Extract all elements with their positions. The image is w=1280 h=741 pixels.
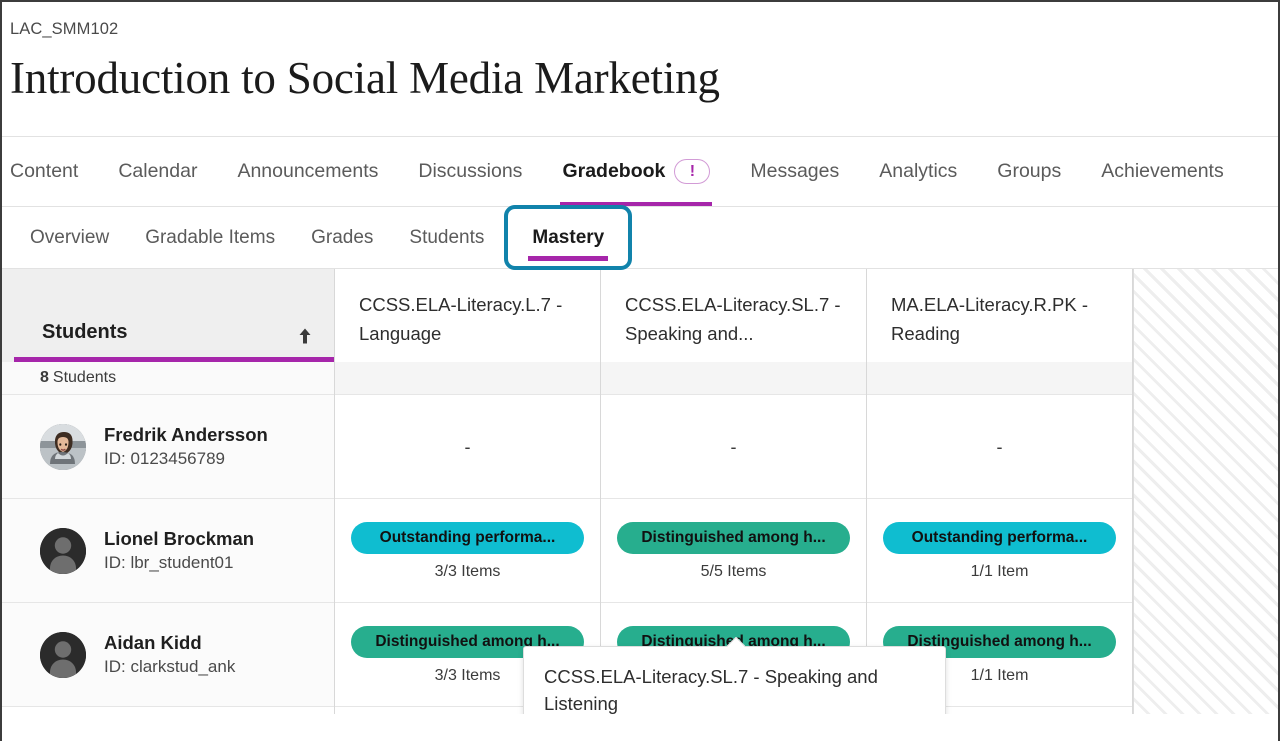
mastery-cell[interactable]: Outstanding performa...3/3 Items <box>335 499 600 603</box>
nav-item-content[interactable]: Content <box>2 137 98 206</box>
empty-value: - <box>997 438 1003 456</box>
avatar <box>40 424 86 470</box>
column-header-tooltip: CCSS.ELA-Literacy.SL.7 - Speaking and Li… <box>523 646 946 714</box>
nav-item-gradebook[interactable]: Gradebook! <box>542 137 730 206</box>
column-header[interactable]: MA.ELA-Literacy.R.PK - Reading <box>867 269 1132 362</box>
items-count-label: 3/3 Items <box>435 564 501 580</box>
student-meta: Lionel BrockmanID: lbr_student01 <box>104 528 254 574</box>
tab-label: Gradable Items <box>145 227 275 249</box>
nav-item-calendar[interactable]: Calendar <box>98 137 217 206</box>
tab-gradable-items[interactable]: Gradable Items <box>127 207 293 268</box>
tab-students[interactable]: Students <box>391 207 502 268</box>
nav-active-underline <box>560 202 712 206</box>
mastery-level-badge[interactable]: Distinguished among h... <box>617 522 850 554</box>
nav-item-analytics[interactable]: Analytics <box>859 137 977 206</box>
main-nav: ContentCalendarAnnouncementsDiscussionsG… <box>2 137 1278 207</box>
column-subheader-band <box>867 362 1132 395</box>
items-count-label: 1/1 Item <box>971 564 1029 580</box>
student-id: ID: lbr_student01 <box>104 553 254 573</box>
course-header: LAC_SMM102 Introduction to Social Media … <box>2 2 1278 137</box>
nav-item-achievements[interactable]: Achievements <box>1081 137 1243 206</box>
mastery-cell[interactable]: Distinguished among h...5/5 Items <box>601 499 866 603</box>
avatar <box>40 528 86 574</box>
page-title: Introduction to Social Media Marketing <box>10 53 1278 105</box>
student-name[interactable]: Fredrik Andersson <box>104 424 268 446</box>
empty-value: - <box>465 438 471 456</box>
column-subheader-band <box>335 362 600 395</box>
tab-mastery[interactable]: Mastery <box>506 207 630 268</box>
mastery-level-label: Distinguished among h... <box>641 529 825 547</box>
empty-value: - <box>731 438 737 456</box>
alert-exclamation-icon[interactable]: ! <box>674 159 710 184</box>
table-row[interactable]: Aidan KiddID: clarkstud_ank <box>2 603 334 707</box>
mastery-level-badge[interactable]: Outstanding performa... <box>351 522 584 554</box>
students-count-label: Students <box>53 369 116 387</box>
mastery-level-badge[interactable]: Outstanding performa... <box>883 522 1116 554</box>
mastery-level-label: Outstanding performa... <box>912 529 1088 547</box>
tooltip-arrow-icon <box>726 637 745 647</box>
tab-grades[interactable]: Grades <box>293 207 391 268</box>
nav-item-label: Discussions <box>418 160 522 183</box>
nav-item-label: Messages <box>750 160 839 183</box>
student-meta: Aidan KiddID: clarkstud_ank <box>104 632 235 678</box>
students-header-accent-bar <box>14 357 334 362</box>
items-count-label: 5/5 Items <box>701 564 767 580</box>
nav-item-announcements[interactable]: Announcements <box>217 137 398 206</box>
items-count-label: 1/1 Item <box>971 668 1029 684</box>
avatar <box>40 632 86 678</box>
nav-item-label: Groups <box>997 160 1061 183</box>
nav-item-messages[interactable]: Messages <box>730 137 859 206</box>
tab-overview[interactable]: Overview <box>2 207 127 268</box>
mastery-cell[interactable]: - <box>867 395 1132 499</box>
mastery-level-label: Outstanding performa... <box>380 529 556 547</box>
column-header[interactable]: CCSS.ELA-Literacy.L.7 - Language <box>335 269 600 362</box>
nav-item-discussions[interactable]: Discussions <box>398 137 542 206</box>
gradebook-sub-nav: OverviewGradable ItemsGradesStudentsMast… <box>2 207 1278 269</box>
mastery-cell[interactable]: Outstanding performa...1/1 Item <box>867 499 1132 603</box>
nav-item-label: Gradebook <box>562 160 665 183</box>
nav-item-label: Achievements <box>1101 160 1223 183</box>
column-header[interactable]: CCSS.ELA-Literacy.SL.7 - Speaking and... <box>601 269 866 362</box>
tab-label: Grades <box>311 227 373 249</box>
student-meta: Fredrik AnderssonID: 0123456789 <box>104 424 268 470</box>
table-row[interactable]: Fredrik AnderssonID: 0123456789 <box>2 395 334 499</box>
student-id: ID: 0123456789 <box>104 449 268 469</box>
tooltip-text: CCSS.ELA-Literacy.SL.7 - Speaking and Li… <box>544 663 925 714</box>
items-count-label: 3/3 Items <box>435 668 501 684</box>
students-header-label: Students <box>42 321 128 344</box>
column-subheader-band <box>601 362 866 395</box>
student-name[interactable]: Aidan Kidd <box>104 632 235 654</box>
nav-item-label: Analytics <box>879 160 957 183</box>
nav-item-groups[interactable]: Groups <box>977 137 1081 206</box>
empty-striped-area <box>1133 269 1278 714</box>
tab-label: Mastery <box>532 227 604 249</box>
arrow-up-icon[interactable] <box>298 328 312 344</box>
mastery-grid: Students 8 Students Fredrik AnderssonID:… <box>2 269 1278 714</box>
course-code: LAC_SMM102 <box>10 20 1278 39</box>
mastery-cell[interactable]: - <box>601 395 866 499</box>
tab-label: Overview <box>30 227 109 249</box>
nav-item-label: Content <box>10 160 78 183</box>
students-count-value: 8 <box>40 369 49 387</box>
students-count: 8 Students <box>2 362 334 395</box>
students-column: Students 8 Students Fredrik AnderssonID:… <box>2 269 335 714</box>
nav-item-label: Calendar <box>118 160 197 183</box>
student-id: ID: clarkstud_ank <box>104 657 235 677</box>
gradebook-mastery-page: LAC_SMM102 Introduction to Social Media … <box>0 0 1280 741</box>
students-column-header[interactable]: Students <box>2 269 334 362</box>
tab-active-underline <box>528 256 608 261</box>
student-name[interactable]: Lionel Brockman <box>104 528 254 550</box>
table-row[interactable]: Lionel BrockmanID: lbr_student01 <box>2 499 334 603</box>
nav-item-label: Announcements <box>237 160 378 183</box>
tab-label: Students <box>409 227 484 249</box>
mastery-cell[interactable]: - <box>335 395 600 499</box>
